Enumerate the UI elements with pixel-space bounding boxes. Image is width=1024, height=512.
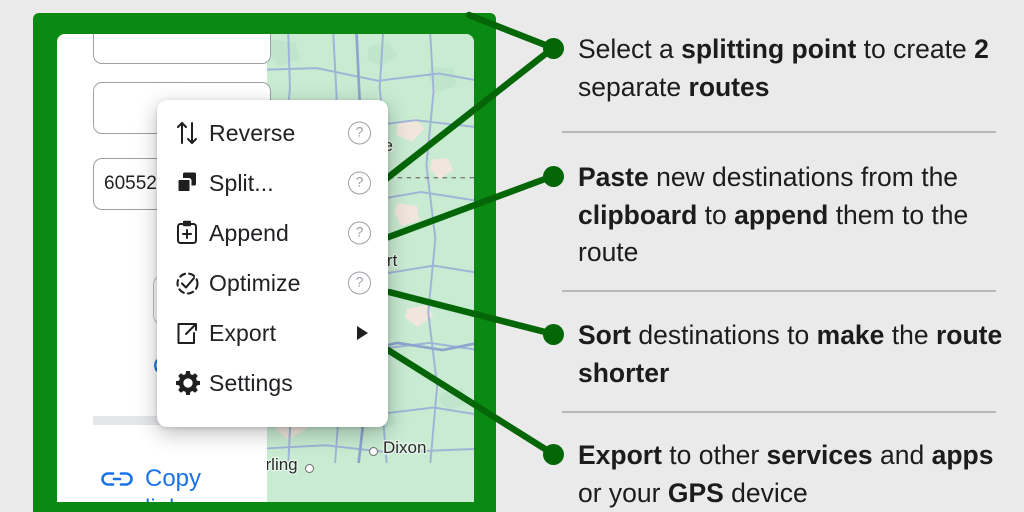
reverse-arrows-icon xyxy=(175,120,209,146)
address-field-1[interactable] xyxy=(93,34,271,64)
annotation-separator-2 xyxy=(562,290,996,292)
help-icon-optimize[interactable]: ? xyxy=(348,272,371,295)
copy-link-button[interactable]: Copy link xyxy=(101,464,201,502)
menu-item-reverse[interactable]: Reverse ? xyxy=(157,108,388,158)
copy-link-label-line1: Copy xyxy=(145,464,201,494)
chevron-right-icon xyxy=(357,326,368,340)
menu-item-export[interactable]: Export xyxy=(157,308,388,358)
menu-item-append[interactable]: Append ? xyxy=(157,208,388,258)
copy-link-label-line2: link xyxy=(145,494,201,502)
menu-item-split-label: Split... xyxy=(209,170,274,197)
annotation-separator-1 xyxy=(562,131,996,133)
menu-item-split[interactable]: Split... ? xyxy=(157,158,388,208)
menu-item-settings[interactable]: Settings xyxy=(157,358,388,408)
menu-item-settings-label: Settings xyxy=(209,370,293,397)
annotation-separator-3 xyxy=(562,411,996,413)
help-icon-reverse[interactable]: ? xyxy=(348,122,371,145)
chain-link-icon xyxy=(101,464,133,493)
menu-item-export-label: Export xyxy=(209,320,276,347)
annotation-splitting-point: Select a splitting point to create 2 sep… xyxy=(578,31,1003,106)
menu-item-reverse-label: Reverse xyxy=(209,120,295,147)
annotation-paste-clipboard: Paste new destinations from the clipboar… xyxy=(578,159,1003,272)
menu-item-optimize-label: Optimize xyxy=(209,270,301,297)
optimize-gauge-icon xyxy=(175,271,209,296)
map-label-2: Dixon xyxy=(383,438,426,458)
annotation-sort-destinations: Sort destinations to make the route shor… xyxy=(578,317,1003,392)
bullet-dot-1 xyxy=(543,38,564,59)
gear-icon xyxy=(175,370,209,396)
bullet-dot-2 xyxy=(543,166,564,187)
menu-item-append-label: Append xyxy=(209,220,289,247)
help-icon-append[interactable]: ? xyxy=(348,222,371,245)
screenshot-root: 60552, U e Opt xyxy=(0,0,1024,512)
help-icon-split[interactable]: ? xyxy=(348,172,371,195)
export-share-icon xyxy=(175,321,209,346)
context-menu[interactable]: Reverse ? Split... ? xyxy=(157,100,388,427)
annotation-export-services: Export to other services and apps or you… xyxy=(578,437,1003,512)
split-squares-icon xyxy=(175,171,209,195)
bullet-dot-3 xyxy=(543,324,564,345)
clipboard-plus-icon xyxy=(175,220,209,246)
map-dot-sterling xyxy=(305,464,314,473)
map-dot-dixon xyxy=(369,447,378,456)
bullet-dot-4 xyxy=(543,444,564,465)
menu-item-optimize[interactable]: Optimize ? xyxy=(157,258,388,308)
